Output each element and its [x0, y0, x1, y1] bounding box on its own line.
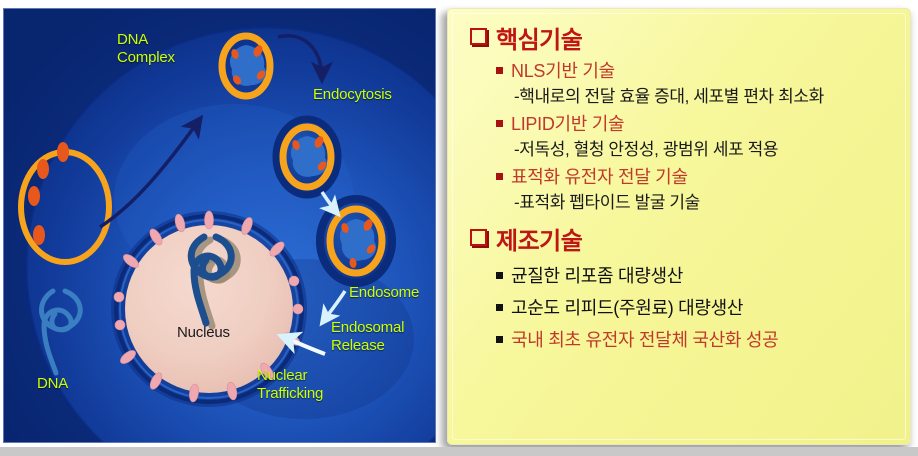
hollow-square-bullet-icon — [470, 28, 487, 45]
hollow-square-bullet-icon — [470, 229, 487, 246]
label-endosomal-release: Endosomal Release — [331, 319, 404, 355]
core-technology-list: NLS기반 기술 -핵내로의 전달 효율 증대, 세포별 편차 최소화 LIPI… — [462, 60, 898, 214]
bullet-row: 표적화 유전자 전달 기술 — [496, 166, 898, 189]
solid-square-bullet-icon — [496, 304, 503, 311]
solid-square-bullet-icon — [496, 272, 503, 279]
bullet-row: 국내 최초 유전자 전달체 국산화 성공 — [496, 329, 898, 352]
bullet-label: 표적화 유전자 전달 기술 — [511, 166, 688, 189]
bullet-label: 균질한 리포좀 대량생산 — [511, 265, 683, 288]
section-manufacturing-technology: 제조기술 균질한 리포좀 대량생산 고순도 리피드(주원료) 대량생산 — [462, 228, 898, 352]
sub-detail-text: -표적화 펩타이드 발굴 기술 — [514, 192, 898, 214]
endosome-lower — [316, 195, 396, 287]
manufacturing-technology-list: 균질한 리포좀 대량생산 고순도 리피드(주원료) 대량생산 국내 최초 유전자… — [462, 265, 898, 352]
label-dna-complex: DNA Complex — [117, 31, 175, 67]
endosome-upper — [273, 116, 341, 198]
list-item: 고순도 리피드(주원료) 대량생산 — [462, 297, 898, 320]
bullet-row: 균질한 리포좀 대량생산 — [496, 265, 898, 288]
bullet-row: LIPID기반 기술 — [496, 113, 898, 136]
section-heading-core: 핵심기술 — [470, 27, 898, 55]
dna-complex-particle — [219, 33, 273, 99]
section-core-technology: 핵심기술 NLS기반 기술 -핵내로의 전달 효율 증대, 세포별 편차 최소화… — [462, 27, 898, 214]
label-nucleus: Nucleus — [177, 324, 230, 342]
bullet-row: 고순도 리피드(주원료) 대량생산 — [496, 297, 898, 320]
solid-square-bullet-icon — [496, 120, 503, 127]
section-heading-manufacturing: 제조기술 — [470, 228, 898, 256]
page-bottom-strip — [0, 447, 918, 456]
label-endocytosis: Endocytosis — [313, 86, 392, 104]
list-item: 균질한 리포좀 대량생산 — [462, 265, 898, 288]
bullet-label: 고순도 리피드(주원료) 대량생산 — [511, 297, 743, 320]
list-item: 국내 최초 유전자 전달체 국산화 성공 — [462, 329, 898, 352]
bullet-label: 국내 최초 유전자 전달체 국산화 성공 — [511, 329, 778, 352]
solid-square-bullet-icon — [496, 67, 503, 74]
bullet-row: NLS기반 기술 — [496, 60, 898, 83]
bullet-label: NLS기반 기술 — [511, 60, 615, 83]
sub-detail-text: -저독성, 혈청 안정성, 광범위 세포 적용 — [514, 139, 898, 161]
section-heading-manufacturing-label: 제조기술 — [496, 228, 582, 256]
gene-delivery-diagram: DNA Complex Endocytosis Endosome Endosom… — [3, 8, 436, 443]
bullet-label: LIPID기반 기술 — [511, 113, 624, 136]
solid-square-bullet-icon — [496, 336, 503, 343]
sub-detail-text: -핵내로의 전달 효율 증대, 세포별 편차 최소화 — [514, 86, 898, 108]
list-item: LIPID기반 기술 -저독성, 혈청 안정성, 광범위 세포 적용 — [462, 113, 898, 161]
label-endosome: Endosome — [349, 284, 419, 302]
section-heading-core-label: 핵심기술 — [496, 27, 582, 55]
label-dna: DNA — [37, 375, 68, 393]
list-item: NLS기반 기술 -핵내로의 전달 효율 증대, 세포별 편차 최소화 — [462, 60, 898, 108]
slide-page: DNA Complex Endocytosis Endosome Endosom… — [0, 0, 918, 456]
solid-square-bullet-icon — [496, 173, 503, 180]
technology-summary-panel: 핵심기술 NLS기반 기술 -핵내로의 전달 효율 증대, 세포별 편차 최소화… — [447, 8, 911, 445]
diagram-canvas — [4, 9, 435, 442]
label-nuclear-trafficking: Nuclear Trafficking — [257, 367, 323, 403]
list-item: 표적화 유전자 전달 기술 -표적화 펩타이드 발굴 기술 — [462, 166, 898, 214]
